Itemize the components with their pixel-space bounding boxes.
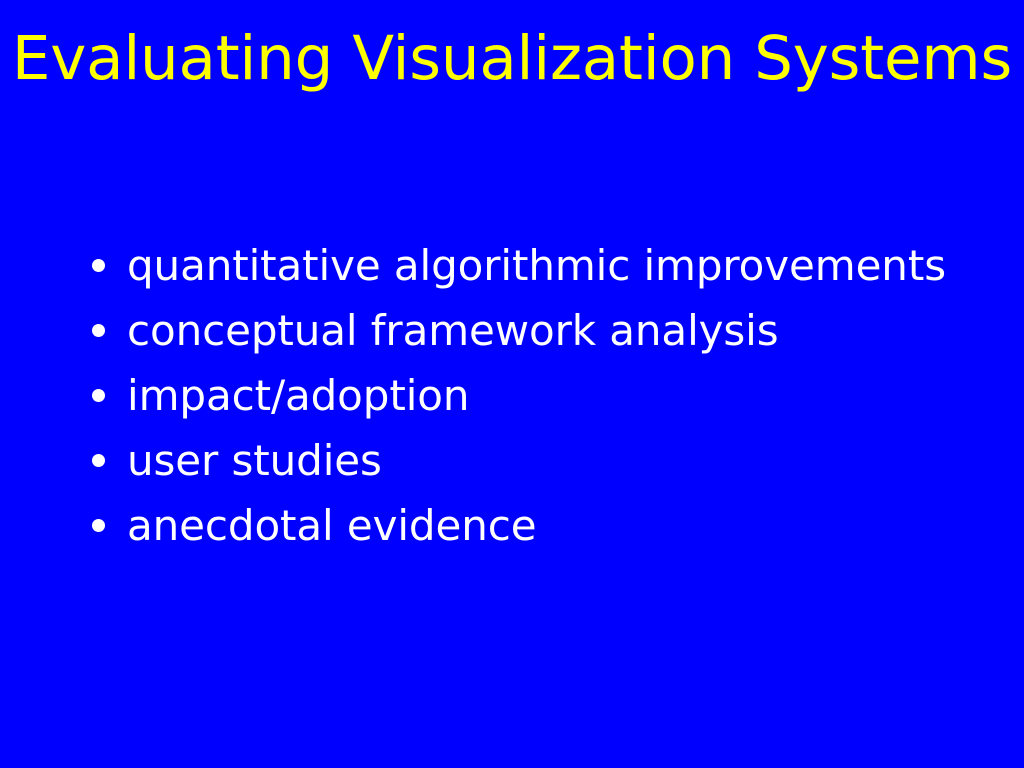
bullet-item-label: impact/adoption — [127, 363, 469, 428]
presentation-slide: Evaluating Visualization Systems quantit… — [0, 0, 1024, 768]
bullet-list: quantitative algorithmic improvements co… — [92, 233, 972, 558]
bullet-item-label: quantitative algorithmic improvements — [127, 233, 946, 298]
list-item: anecdotal evidence — [92, 493, 972, 558]
list-item: conceptual framework analysis — [92, 298, 972, 363]
bullet-point-icon — [92, 324, 105, 337]
list-item: user studies — [92, 428, 972, 493]
list-item: impact/adoption — [92, 363, 972, 428]
bullet-item-label: anecdotal evidence — [127, 493, 536, 558]
bullet-point-icon — [92, 389, 105, 402]
bullet-item-label: user studies — [127, 428, 382, 493]
bullet-item-label: conceptual framework analysis — [127, 298, 779, 363]
list-item: quantitative algorithmic improvements — [92, 233, 972, 298]
slide-title: Evaluating Visualization Systems — [0, 28, 1024, 89]
bullet-point-icon — [92, 454, 105, 467]
bullet-point-icon — [92, 519, 105, 532]
bullet-point-icon — [92, 259, 105, 272]
